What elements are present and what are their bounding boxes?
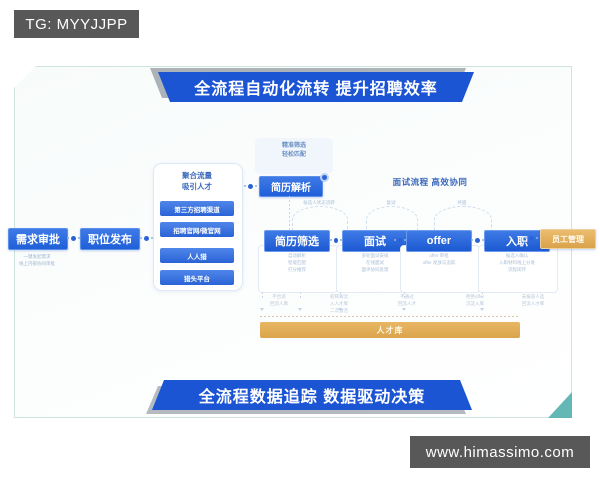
channel-item-headhunter[interactable]: 猎头平台 [160,270,234,285]
channel-item-career-site[interactable]: 招聘官网/微官网 [160,222,234,237]
talent-pool-bar[interactable]: 人才库 [260,322,520,338]
node-employee-management[interactable]: 员工管理 [540,229,596,249]
connector-demand-to-publish [66,234,80,242]
pool-top-rule [260,316,520,317]
arc-label-1: 复试 [361,200,421,206]
pool-tick-4 [482,292,483,300]
pool-note-2: 不通过 回流人才 [380,294,434,308]
arc-label-0: 候选人状态流转 [289,200,349,206]
pool-arrow-0 [260,308,264,311]
channel-item-referral[interactable]: 人人猎 [160,248,234,263]
pool-tick-3 [404,292,405,300]
pool-note-0: 不合适 回流人库 [252,294,306,308]
stage-screening-sub: 自动解析 智能匹配 打分推荐 [258,252,336,274]
channels-panel-title: 聚合流量 吸引人才 [153,170,241,193]
connector-publish-to-channels [139,234,153,242]
arc-offer-to-onboard [434,206,492,233]
pool-arrow-4 [480,308,484,311]
pool-arrow-3 [402,308,406,311]
arc-label-2: 终面 [432,200,492,206]
stage-offer-sub: offer 审批 offer 发放与追踪 [400,252,478,266]
watermark-website: www.himassimo.com [410,436,590,468]
pool-tick-2 [340,292,341,300]
caption-demand-approval: 一键发起需求 线上内部协同审批 [4,254,70,267]
node-resume-parse[interactable]: 简历解析 [259,176,323,197]
pool-arrow-1 [298,308,302,311]
stage-offer[interactable]: offer [406,230,472,252]
pool-arrow-2 [338,308,342,311]
connector-offer-to-onboard [470,236,484,244]
stage-screening[interactable]: 简历筛选 [264,230,330,252]
connector-interview-to-offer [394,236,406,244]
connector-channels-to-parse [241,182,259,190]
arc-interview-to-offer [366,206,418,233]
node-demand-approval[interactable]: 需求审批 [8,228,68,250]
stage-onboard-sub: 候选人确认 入职材料线上分发 流程闭环 [478,252,556,274]
channel-item-third-party[interactable]: 第三方招聘渠道 [160,201,234,216]
pool-note-1: 初筛淘汰 入人才库 二次激活 [312,294,366,315]
interview-section-header: 面试流程 高效协同 [370,176,490,188]
caption-resume-parse: 精准筛选 轻松匹配 [258,142,330,160]
node-job-publish[interactable]: 职位发布 [80,228,140,250]
connector-screening-to-interview [330,236,342,244]
watermark-telegram: TG: MYYJJPP [14,10,139,38]
arc-screening-to-interview [292,206,348,233]
pool-tick-1 [300,292,301,300]
connector-onboard-to-employee [522,234,540,242]
bottom-banner: 全流程数据追踪 数据驱动决策 [152,380,472,410]
pool-note-3: 拒绝offer 沉淀入库 [448,294,502,308]
parse-node-dot-icon [320,173,329,182]
pool-tick-0 [262,292,263,300]
pool-note-4: 未报道人选 回流人才库 [506,294,560,308]
top-banner: 全流程自动化流转 提升招聘效率 [158,72,474,102]
